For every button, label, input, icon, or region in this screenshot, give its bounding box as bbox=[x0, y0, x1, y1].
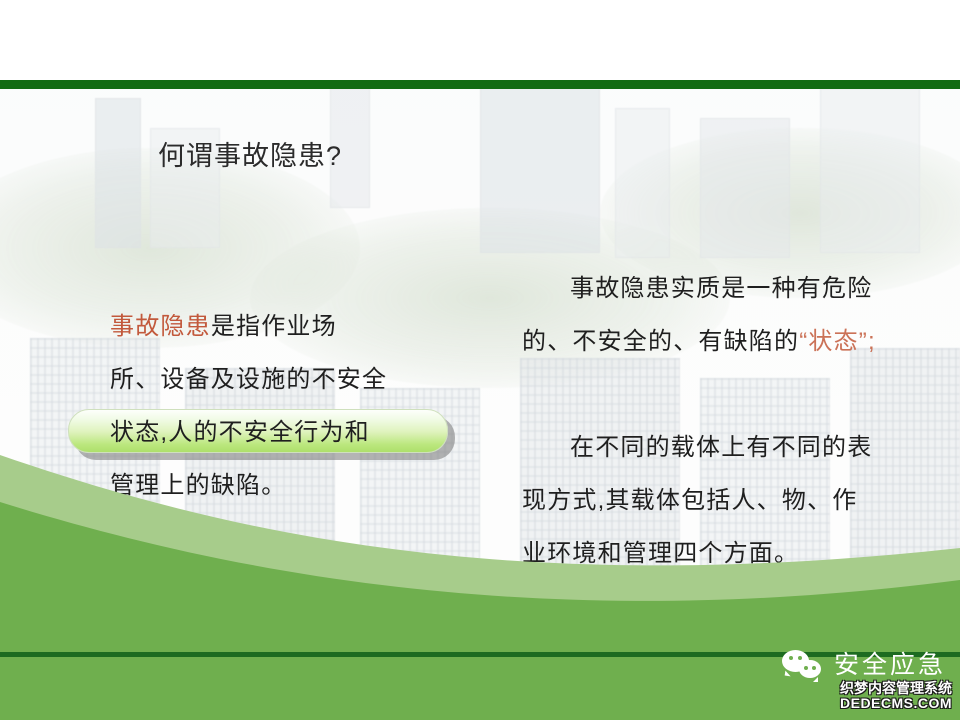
left-line-1: 事故隐患是指作业场 bbox=[110, 300, 470, 353]
left-line-1-rest: 是指作业场 bbox=[211, 313, 337, 340]
right-para-1: 事故隐患实质是一种有危险的、不安全的、有缺陷的“状态”; bbox=[522, 262, 882, 368]
building-block bbox=[615, 108, 670, 258]
presentation-slide: 何谓事故隐患? 事故隐患是指作业场 所、设备及设施的不安全 管理上的缺陷。 状态… bbox=[0, 0, 960, 720]
wechat-eye bbox=[812, 666, 816, 670]
wechat-eye bbox=[789, 656, 793, 660]
accent-term-state: “状态” bbox=[799, 328, 868, 355]
wechat-icon bbox=[782, 648, 826, 682]
wechat-bubble-small bbox=[799, 660, 821, 678]
wechat-eye bbox=[804, 666, 808, 670]
building-block bbox=[95, 98, 141, 248]
watermark-line-cn: 织梦内容管理系统 bbox=[840, 681, 952, 696]
brand-lockup: 安全应急 bbox=[782, 648, 946, 682]
top-green-rule bbox=[0, 80, 960, 89]
page-title: 何谓事故隐患? bbox=[158, 140, 342, 172]
building-block bbox=[480, 88, 600, 253]
building-block bbox=[820, 88, 920, 253]
building-block bbox=[700, 118, 790, 258]
right-para-gap bbox=[522, 368, 882, 421]
brand-label: 安全应急 bbox=[834, 653, 946, 678]
right-para-1-part-2: 的、不安全的、有缺陷的 bbox=[522, 328, 799, 355]
right-para-1-part-3: ; bbox=[868, 328, 876, 355]
dedecms-watermark: 织梦内容管理系统 DEDECMS.COM bbox=[840, 681, 952, 710]
wechat-eye bbox=[798, 656, 802, 660]
right-para-1-part-1: 事故隐患实质是一种有危险 bbox=[570, 275, 872, 302]
accent-term: 事故隐患 bbox=[110, 313, 211, 340]
watermark-line-en: DEDECMS.COM bbox=[840, 696, 952, 711]
left-line-2: 所、设备及设施的不安全 bbox=[110, 353, 470, 406]
